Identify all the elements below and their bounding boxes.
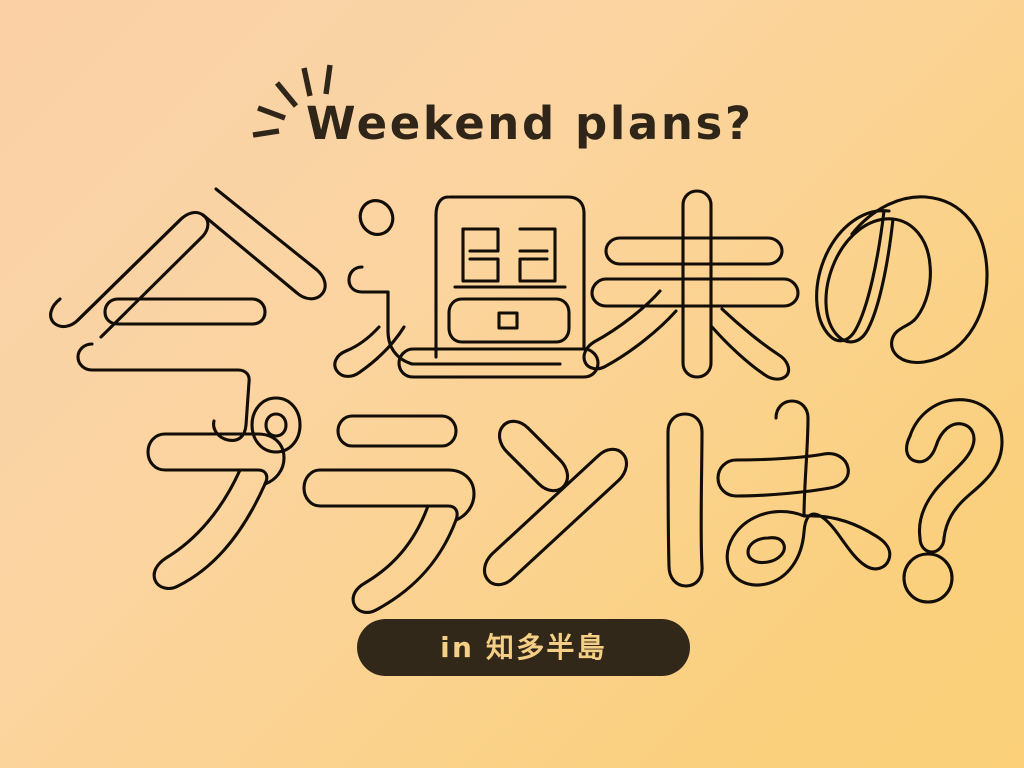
eyebrow-headline: Weekend plans?	[306, 101, 754, 146]
headline-line-1	[0, 181, 1024, 381]
glyph-question	[904, 400, 1002, 602]
glyph-ra	[304, 416, 474, 612]
glyph-sue	[584, 191, 798, 379]
glyph-no	[817, 197, 987, 363]
glyph-ha	[668, 401, 890, 586]
glyph-pu	[148, 398, 300, 588]
headline-line-2	[0, 388, 1024, 584]
location-badge-label: in 知多半島	[440, 634, 607, 662]
location-badge[interactable]: in 知多半島	[357, 619, 690, 676]
glyph-shuu	[335, 197, 598, 377]
poster-canvas: Weekend plans?	[0, 0, 1024, 768]
glyph-n	[485, 421, 627, 584]
